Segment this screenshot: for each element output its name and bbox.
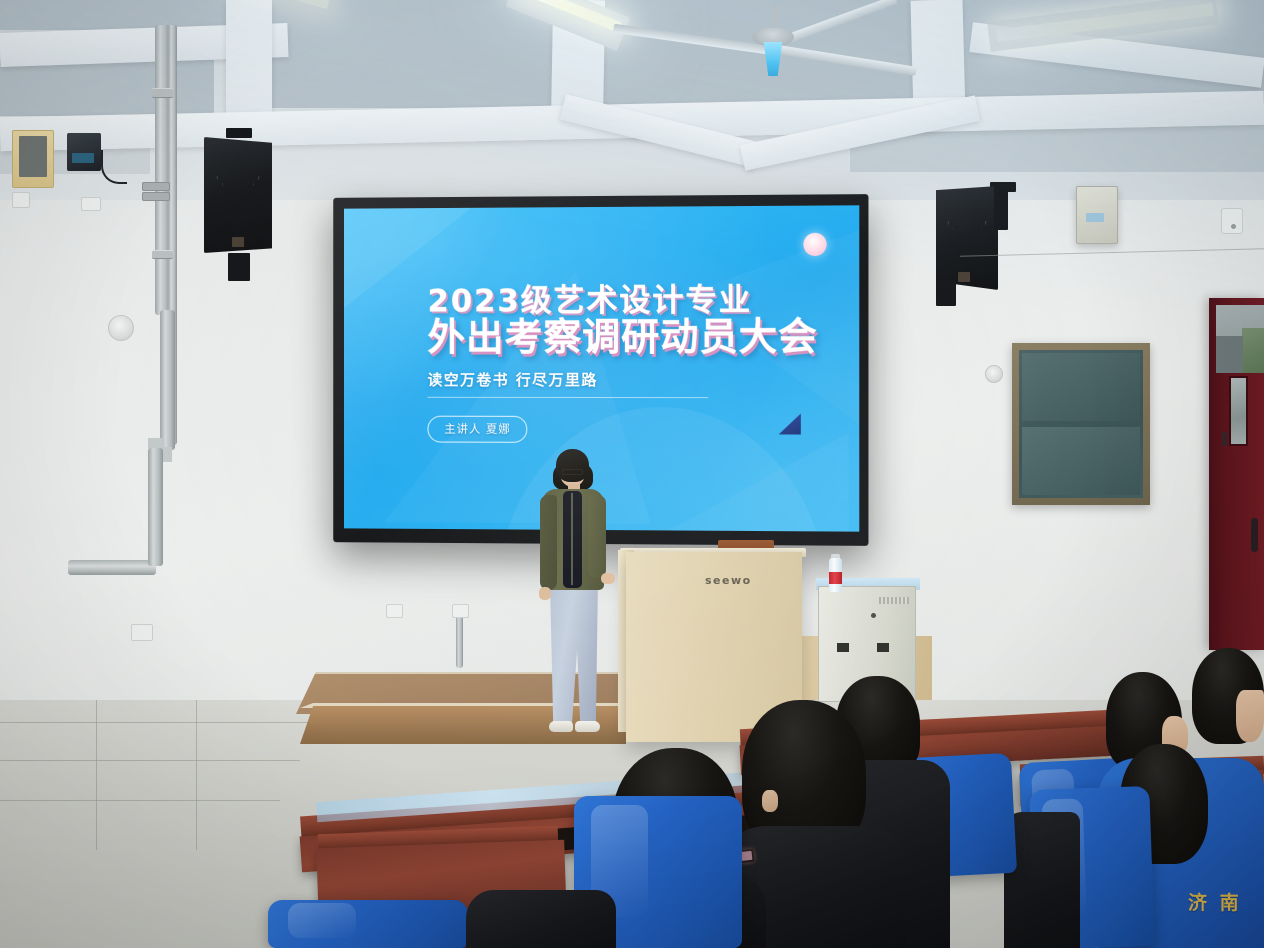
presenter-glasses: [562, 469, 583, 475]
presenter-right-hand: [601, 573, 615, 584]
ceiling-coffer: [268, 0, 558, 108]
wall-speaker-left: [204, 137, 272, 253]
ceiling-beam: [226, 0, 272, 124]
controller-display: [72, 153, 94, 163]
presenter-left-shoe: [549, 721, 573, 732]
floor-tile-line: [0, 800, 280, 801]
presenter-left-arm: [540, 495, 557, 590]
outlet-plate: [386, 604, 403, 618]
meter-label: [1086, 213, 1104, 222]
wall-mounted-controller[interactable]: [67, 133, 101, 171]
presenter-hair-top: [556, 449, 589, 482]
outlet-plate: [81, 197, 101, 211]
cabinet-handle[interactable]: [877, 643, 889, 652]
cabinet-lock[interactable]: [871, 613, 876, 618]
cabinet-handle[interactable]: [837, 643, 849, 652]
ceiling: [0, 0, 1264, 200]
notice-board-surface: [1019, 350, 1143, 498]
floor-tile-line: [196, 700, 197, 850]
slide-divider: [428, 397, 709, 398]
notice-board: [1012, 343, 1150, 505]
outlet-plate: [452, 604, 469, 618]
wall-pipe-horizontal: [68, 560, 156, 575]
uniform-logo-text: 济 南: [1188, 888, 1242, 915]
slide-text-block: 2023级艺术设计专业 外出考察调研动员大会 读空万卷书 行尽万里路 主讲人 夏…: [428, 284, 820, 444]
presenter-jeans: [548, 585, 600, 725]
speaker-bracket: [226, 128, 252, 138]
presenter-jacket-placket: [571, 493, 573, 585]
electrical-meter-box: [1076, 186, 1118, 244]
outlet-plate: [131, 624, 153, 641]
thermostat-indicator: [1231, 224, 1236, 229]
wall-sign-amber: [12, 130, 54, 188]
presenter-left-hand: [539, 587, 551, 600]
speaker-mount: [994, 186, 1008, 230]
floor-tile-line: [0, 760, 300, 761]
sign-face: [19, 136, 47, 177]
door-transom-window: [1216, 305, 1264, 373]
student-backpack: [1004, 812, 1080, 948]
cabinet-vent: [879, 597, 909, 604]
pipe-coupling: [152, 250, 173, 259]
speaker-mount: [228, 253, 250, 281]
speaker-v-logo-inner: [222, 183, 255, 225]
door-handle[interactable]: [1251, 518, 1258, 552]
slide-speaker-badge: 主讲人 夏娜: [428, 416, 528, 443]
thermostat: [1221, 208, 1243, 234]
smoke-detector: [108, 315, 134, 341]
ceiling-coffer: [0, 60, 214, 116]
presenter: [529, 449, 615, 747]
door-lock-plate: [1222, 432, 1227, 446]
notice-board-panel: [1022, 353, 1140, 421]
wall-pipe-vertical: [148, 448, 163, 566]
slide-title-line-2: 外出考察调研动员大会: [428, 318, 820, 357]
pipe-flange: [142, 182, 170, 191]
slide-title-line-1: 2023级艺术设计专业: [428, 284, 820, 318]
student-ear: [762, 790, 778, 812]
student-shoulder: [466, 890, 616, 948]
transom-glass-foliage: [1242, 328, 1264, 373]
pipe-coupling: [152, 88, 173, 98]
speaker-v-logo-inner: [952, 228, 982, 265]
floor-tile-line: [0, 722, 330, 723]
transom-glass-wall: [1216, 336, 1243, 373]
wall-sensor: [985, 365, 1003, 383]
lecture-hall-photo: 2023级艺术设计专业 外出考察调研动员大会 读空万卷书 行尽万里路 主讲人 夏…: [0, 0, 1264, 948]
floor-tile-line: [96, 700, 97, 850]
audience-chair: [268, 900, 468, 948]
outlet-plate: [12, 192, 30, 208]
presenter-right-arm: [588, 495, 606, 578]
notice-board-panel: [1022, 427, 1140, 495]
podium-brand-logo: seewo: [705, 574, 752, 587]
ceiling-fan-rod: [770, 4, 779, 30]
speaker-badge: [958, 272, 970, 282]
wall-pipe-vertical: [160, 310, 175, 450]
speaker-badge: [232, 237, 244, 247]
wall-speaker-right: [936, 186, 998, 290]
slide-subtitle: 读空万卷书 行尽万里路: [428, 369, 820, 390]
pipe-flange: [142, 192, 170, 201]
presenter-right-shoe: [575, 721, 600, 732]
door-vision-panel: [1229, 376, 1248, 446]
speaker-mount: [936, 280, 956, 306]
student-face: [1236, 690, 1264, 742]
chair-highlight: [288, 903, 356, 939]
water-bottle-label: [829, 572, 842, 584]
